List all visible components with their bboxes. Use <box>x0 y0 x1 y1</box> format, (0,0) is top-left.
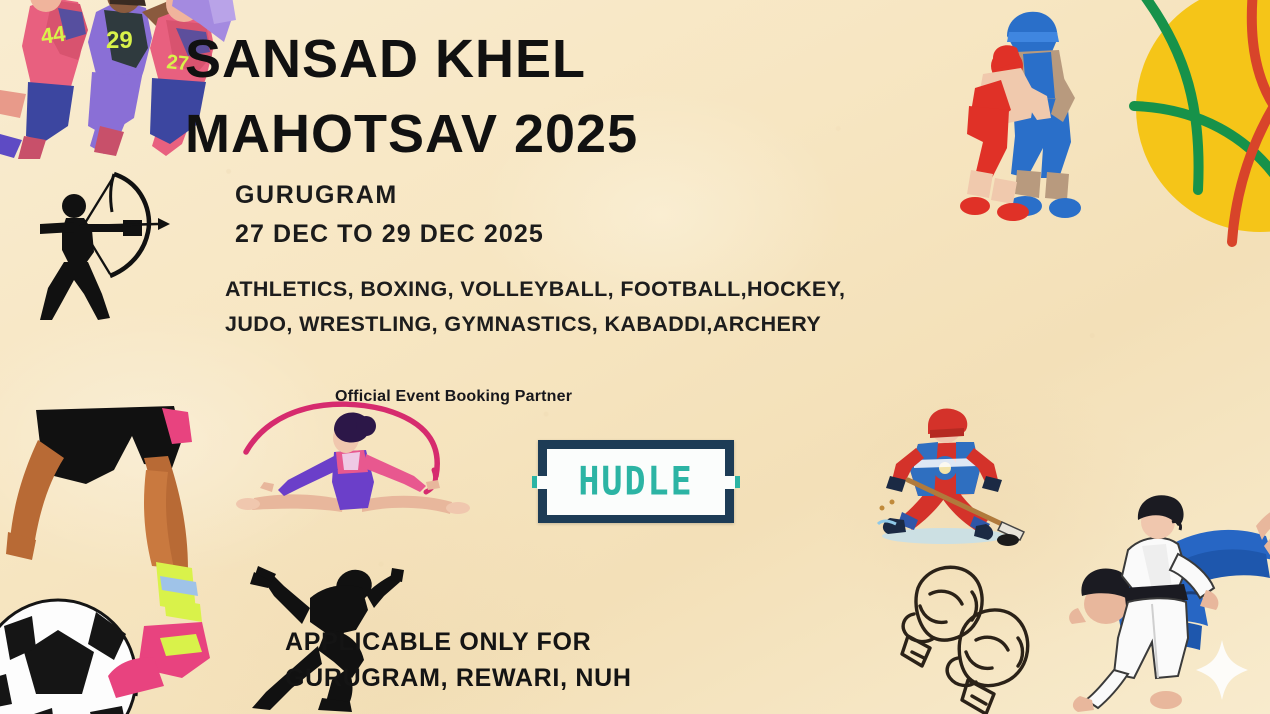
logo-dot-right <box>735 476 740 488</box>
event-city: GURUGRAM <box>235 181 1035 210</box>
hudle-logo-inner: HUDLE <box>547 449 725 515</box>
event-dates: 27 DEC TO 29 DEC 2025 <box>235 220 1035 249</box>
sports-line-2: JUDO, WRESTLING, GYMNASTICS, KABADDI,ARC… <box>225 307 1045 342</box>
volleyball-illustration <box>1140 0 1270 245</box>
applicable-line-2: GURUGRAM, REWARI, NUH <box>285 661 985 697</box>
sports-line-1: ATHLETICS, BOXING, VOLLEYBALL, FOOTBALL,… <box>225 272 1045 307</box>
title-line-1: SANSAD KHEL <box>185 22 1085 97</box>
ice-hockey-player-illustration <box>878 408 1028 558</box>
logo-dot-left <box>532 476 537 488</box>
logo-notch-left <box>537 476 548 489</box>
title-line-2: MAHOTSAV 2025 <box>185 97 1085 172</box>
svg-text:44: 44 <box>39 21 67 49</box>
gymnast-ribbon-illustration <box>238 400 468 535</box>
hudle-wordmark: HUDLE <box>578 459 693 504</box>
judo-throw-illustration <box>1060 492 1270 714</box>
hudle-logo[interactable]: HUDLE <box>538 440 734 523</box>
applicability-note: APPLICABLE ONLY FOR GURUGRAM, REWARI, NU… <box>285 625 985 696</box>
svg-text:29: 29 <box>106 27 133 54</box>
event-poster: 44 29 27 <box>0 0 1270 714</box>
page-title: SANSAD KHEL MAHOTSAV 2025 <box>185 22 1085 171</box>
archer-silhouette-illustration <box>18 170 168 320</box>
logo-notch-right <box>724 476 735 489</box>
footballer-legs-ball-illustration <box>0 400 231 714</box>
sports-list: ATHLETICS, BOXING, VOLLEYBALL, FOOTBALL,… <box>225 272 1045 342</box>
partner-label: Official Event Booking Partner <box>335 388 935 406</box>
applicable-line-1: APPLICABLE ONLY FOR <box>285 625 985 661</box>
